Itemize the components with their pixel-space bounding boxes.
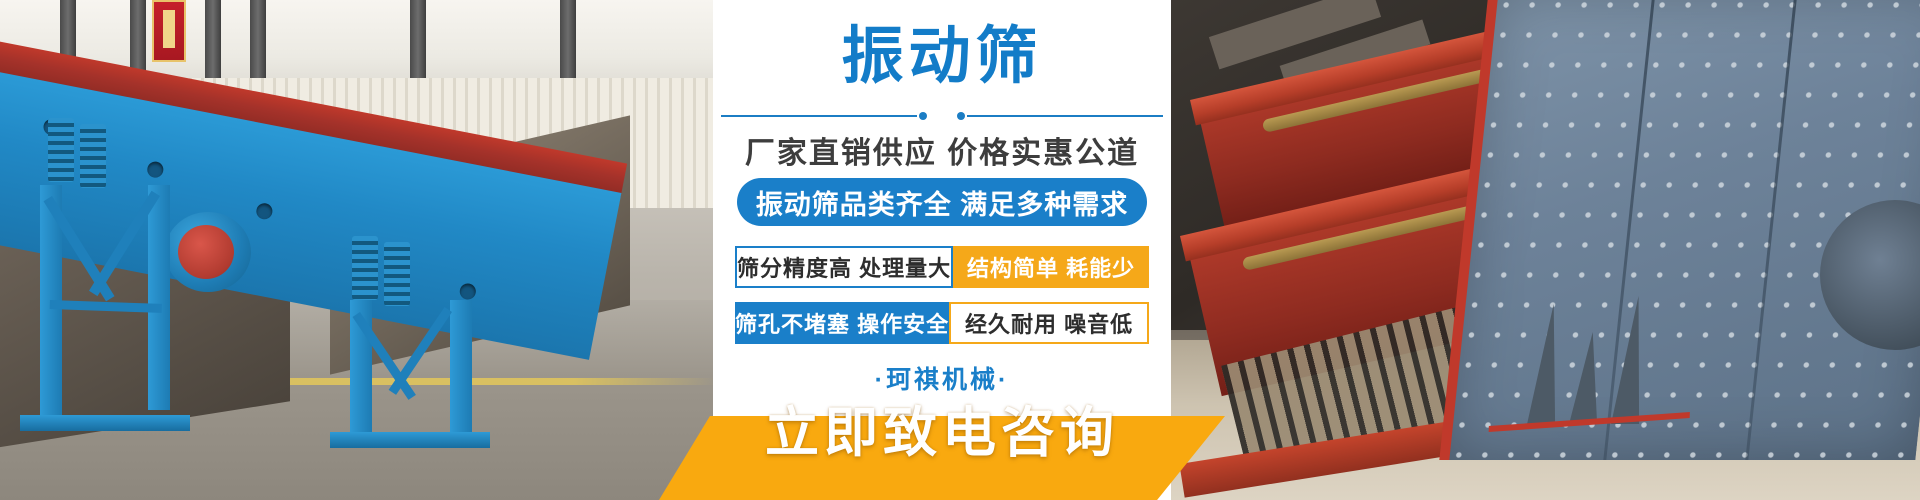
divider-line-left bbox=[721, 115, 917, 117]
feature-row-1: 筛分精度高 处理量大 结构简单 耗能少 bbox=[735, 246, 1149, 288]
feature-1-left: 筛分精度高 处理量大 bbox=[735, 246, 953, 288]
product-photo-right bbox=[1170, 0, 1920, 500]
feature-2-right: 经久耐用 噪音低 bbox=[949, 302, 1149, 344]
page-title: 振动筛 bbox=[713, 26, 1171, 88]
spring bbox=[80, 124, 106, 188]
product-photo-left bbox=[0, 0, 716, 500]
center-content-panel: 振动筛 厂家直销供应 价格实惠公道 振动筛品类齐全 满足多种需求 筛分精度高 处… bbox=[713, 0, 1171, 500]
divider-line-right bbox=[967, 115, 1163, 117]
support-legs bbox=[0, 0, 716, 500]
divider-dot-right bbox=[957, 112, 965, 120]
spring bbox=[352, 236, 378, 300]
feature-2-left: 筛孔不堵塞 操作安全 bbox=[735, 302, 949, 344]
product-banner: 振动筛 厂家直销供应 价格实惠公道 振动筛品类齐全 满足多种需求 筛分精度高 处… bbox=[0, 0, 1920, 500]
divider-dot-left bbox=[919, 112, 927, 120]
feature-row-2: 筛孔不堵塞 操作安全 经久耐用 噪音低 bbox=[735, 302, 1149, 344]
spring bbox=[48, 118, 74, 182]
feature-1-right: 结构简单 耗能少 bbox=[953, 246, 1149, 288]
cta-text: 立即致电咨询 bbox=[713, 388, 1171, 467]
highlight-pill: 振动筛品类齐全 满足多种需求 bbox=[737, 178, 1147, 226]
title-divider bbox=[721, 110, 1163, 122]
subtitle: 厂家直销供应 价格实惠公道 bbox=[713, 128, 1171, 172]
spring bbox=[384, 242, 410, 306]
